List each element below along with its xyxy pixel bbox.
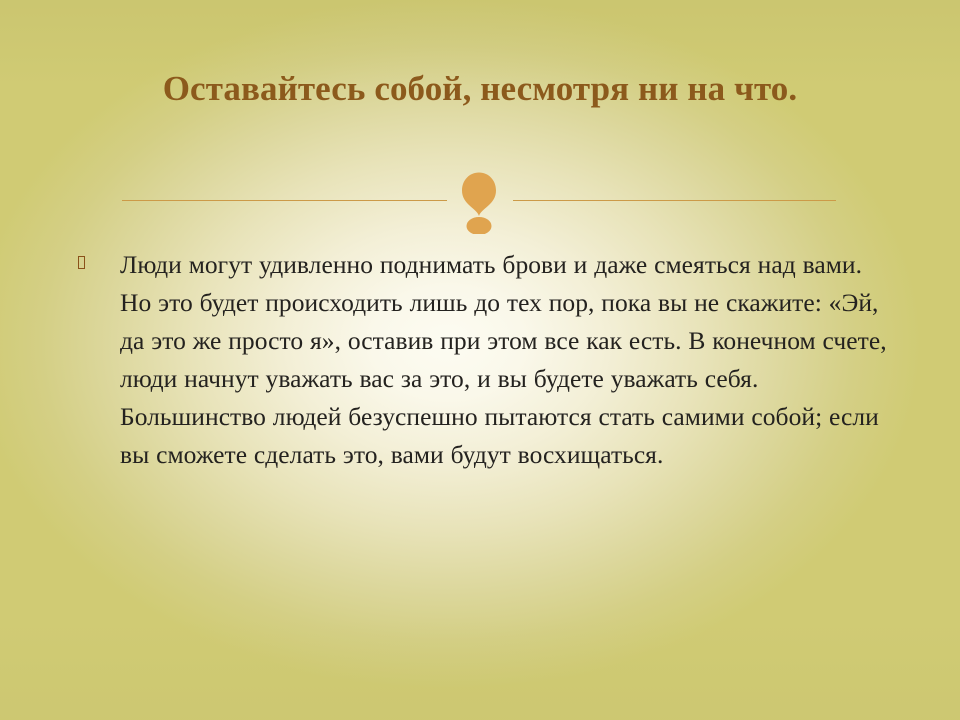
title-divider: [120, 168, 838, 234]
slide-body: Люди могут удивленно поднимать брови и д…: [78, 246, 898, 474]
missing-glyph-bullet-icon: [78, 246, 120, 271]
divider-rule-left-icon: [122, 200, 447, 201]
bullet-item-paragraph: Люди могут удивленно поднимать брови и д…: [120, 246, 898, 474]
bullet-list-item: Люди могут удивленно поднимать брови и д…: [78, 246, 898, 474]
presentation-slide: Оставайтесь собой, несмотря ни на что. Л…: [0, 0, 960, 720]
divider-rule-right-icon: [513, 200, 836, 201]
exclamation-ornament-icon: [456, 168, 502, 234]
slide-title: Оставайтесь собой, несмотря ни на что.: [0, 68, 960, 110]
